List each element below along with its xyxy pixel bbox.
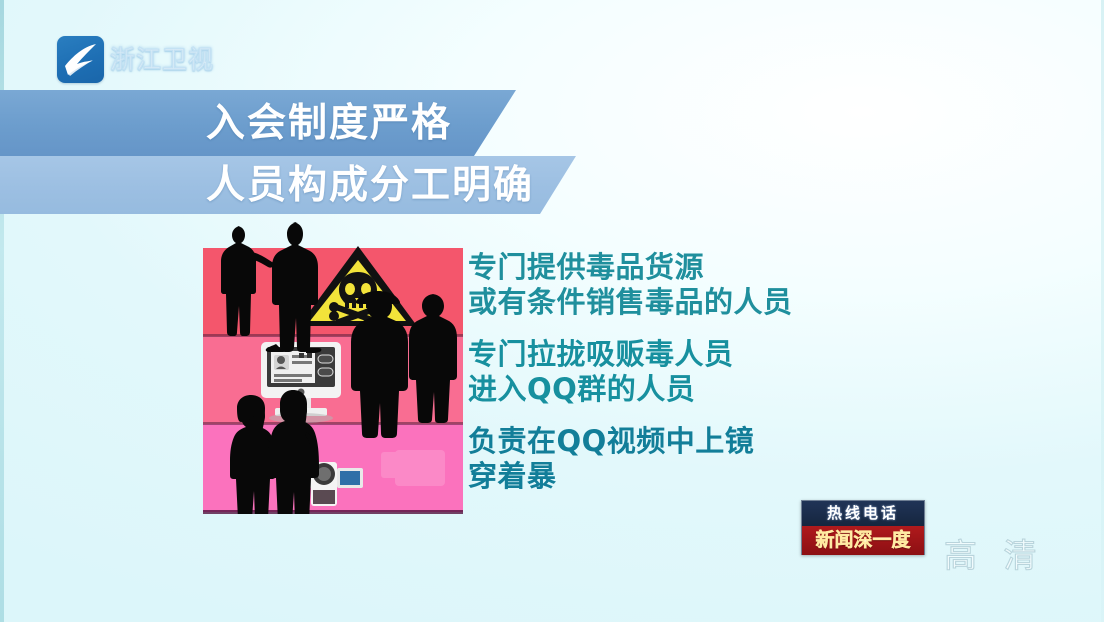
hotline-label-row: 热线电话 bbox=[802, 501, 924, 526]
program-name-row: 新闻深一度 bbox=[802, 526, 924, 555]
text-block-recruiter: 专门拉拢吸贩毒人员 进入QQ群的人员 bbox=[468, 337, 888, 408]
broadcast-frame: 浙江卫视 入会制度严格 人员构成分工明确 bbox=[0, 0, 1104, 622]
channel-wordmark: 浙江卫视 bbox=[110, 47, 214, 72]
headline-banner-primary: 入会制度严格 bbox=[0, 90, 516, 156]
text-line: 负责在QQ视频中上镜 bbox=[468, 424, 888, 459]
hotline-label: 热线电话 bbox=[827, 506, 899, 521]
text-block-performer: 负责在QQ视频中上镜 穿着暴 bbox=[468, 424, 888, 495]
text-line: 或有条件销售毒品的人员 bbox=[468, 285, 888, 320]
text-line: 专门拉拢吸贩毒人员 bbox=[468, 337, 888, 372]
hd-watermark: 高 清 bbox=[944, 539, 1045, 572]
headline-line-1: 入会制度严格 bbox=[206, 104, 452, 143]
text-line: 进入QQ群的人员 bbox=[468, 372, 888, 407]
text-line: 专门提供毒品货源 bbox=[468, 250, 888, 285]
text-line: 穿着暴 bbox=[468, 459, 888, 494]
hotline-program-badge: 热线电话 新闻深一度 bbox=[801, 500, 925, 555]
drug-trafficking-qq-group-illustration bbox=[203, 222, 463, 514]
zhejiang-tv-swoosh-icon bbox=[57, 36, 104, 83]
headline-line-2: 人员构成分工明确 bbox=[206, 166, 534, 205]
text-block-supplier: 专门提供毒品货源 或有条件销售毒品的人员 bbox=[468, 250, 888, 321]
headline-banner-secondary: 人员构成分工明确 bbox=[0, 156, 576, 214]
body-text-column: 专门提供毒品货源 或有条件销售毒品的人员 专门拉拢吸贩毒人员 进入QQ群的人员 … bbox=[468, 250, 888, 510]
channel-logo: 浙江卫视 bbox=[57, 36, 214, 83]
program-name: 新闻深一度 bbox=[815, 531, 910, 550]
